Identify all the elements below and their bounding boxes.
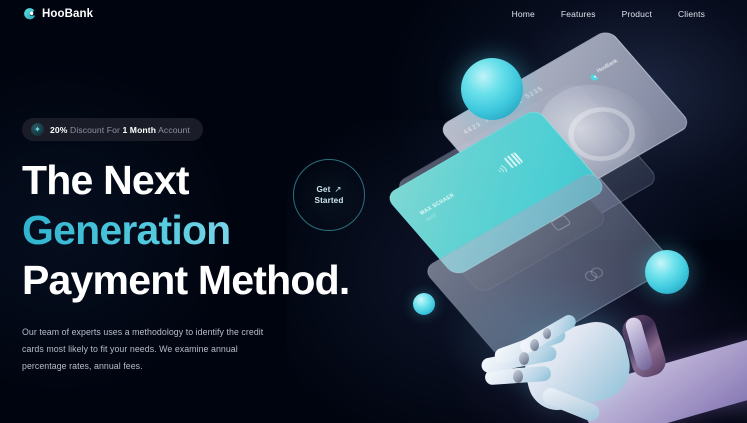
- get-started-top-row: Get ↗: [316, 184, 341, 195]
- card-brand-name: HooBank: [596, 58, 620, 74]
- get-started-label-1: Get: [316, 184, 330, 195]
- hero-content: ✦ 20% Discount For 1 Month Account The N…: [22, 118, 372, 375]
- chip-outline-icon: [550, 214, 572, 231]
- nav-link-home[interactable]: Home: [512, 9, 535, 19]
- contactless-icon: [494, 164, 508, 176]
- hoobank-swoosh-icon: [22, 7, 37, 22]
- discount-percent: 20%: [50, 125, 68, 135]
- get-started-label-2: Started: [315, 195, 344, 206]
- landing-page: HooBank Home Features Product Clients ✦ …: [0, 0, 747, 423]
- brand-name: HooBank: [42, 8, 93, 20]
- robot-joint-1: [513, 370, 523, 383]
- discount-text-after: Account: [158, 125, 190, 135]
- robot-joint-2: [519, 352, 529, 365]
- card-holder-name-teal: MAX SCHAER: [419, 193, 456, 217]
- nav-link-features[interactable]: Features: [561, 9, 596, 19]
- star-sparkle-icon: ✦: [31, 123, 44, 136]
- chip-icon: [504, 152, 524, 169]
- discount-highlight: 1 Month: [122, 125, 156, 135]
- discount-badge-label: 20% Discount For 1 Month Account: [50, 125, 190, 135]
- headline-line-3: Payment Method.: [22, 255, 372, 305]
- card-brand-logo: HooBank: [585, 57, 620, 81]
- robot-joint-3: [530, 339, 539, 351]
- brand-logo[interactable]: HooBank: [22, 7, 93, 22]
- robot-joint-4: [543, 328, 551, 339]
- hero-description: Our team of experts uses a methodology t…: [22, 324, 272, 375]
- sphere-large: [461, 58, 523, 120]
- discount-text-before: Discount For: [70, 125, 120, 135]
- get-started-button[interactable]: Get ↗ Started: [293, 159, 365, 231]
- robotic-hand: [387, 243, 747, 423]
- arrow-up-right-icon: ↗: [334, 185, 341, 194]
- nav-link-product[interactable]: Product: [622, 9, 652, 19]
- nav-link-clients[interactable]: Clients: [678, 9, 705, 19]
- navbar: HooBank Home Features Product Clients: [0, 0, 747, 28]
- nav-links: Home Features Product Clients: [512, 9, 725, 19]
- discount-badge[interactable]: ✦ 20% Discount For 1 Month Account: [22, 118, 203, 141]
- hero-visual: MAX SCHAER 08/27 4823 7163 9882 5235 Hoo…: [387, 0, 747, 423]
